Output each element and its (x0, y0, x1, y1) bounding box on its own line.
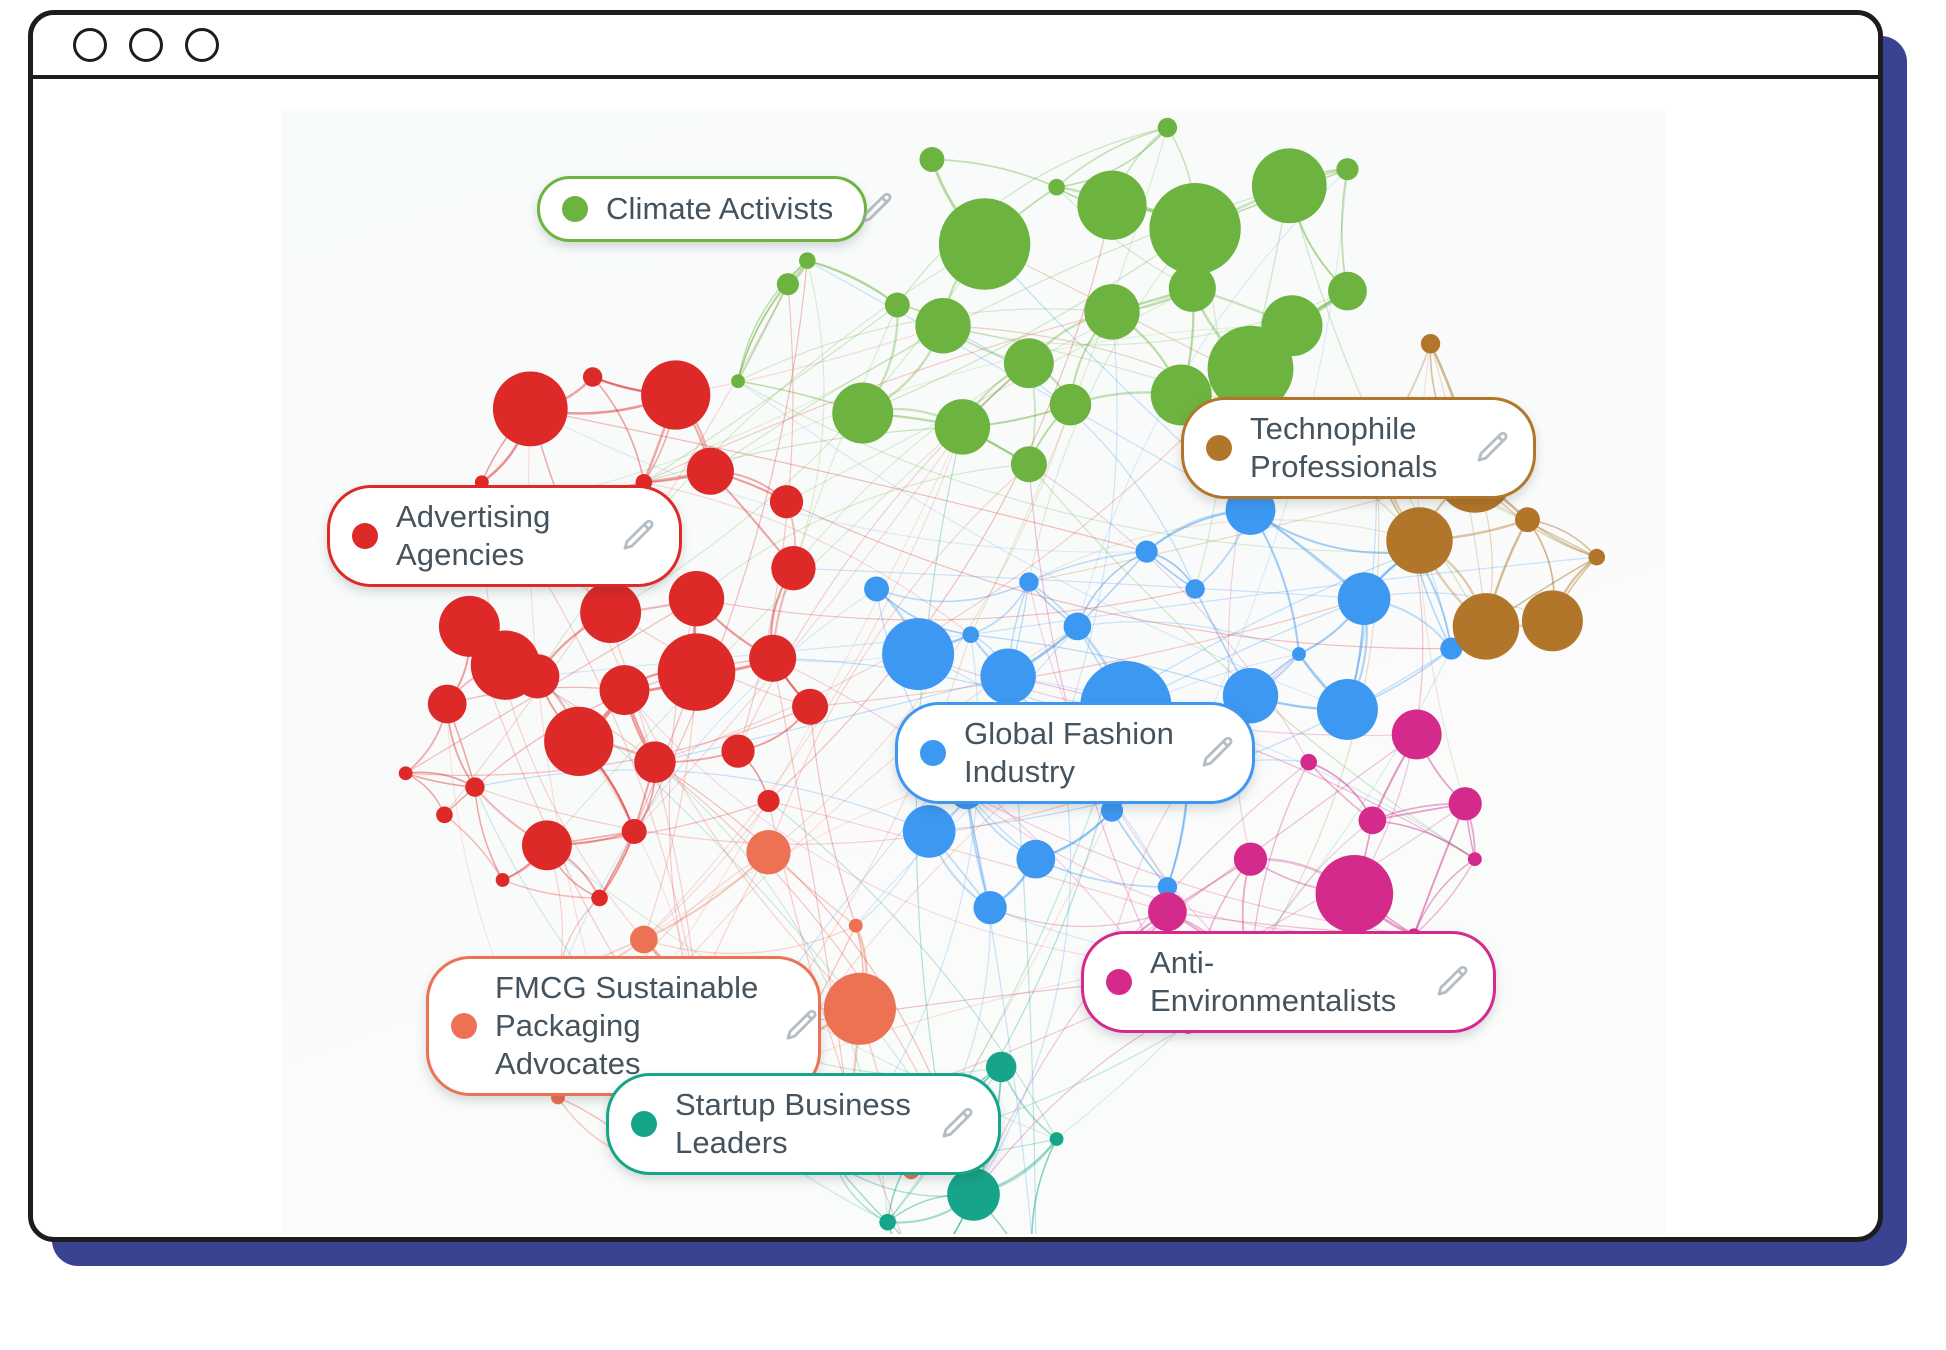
graph-edge (1414, 859, 1475, 935)
graph-node[interactable] (746, 830, 790, 874)
graph-node[interactable] (1421, 334, 1440, 353)
graph-node[interactable] (1136, 540, 1158, 562)
graph-node[interactable] (1252, 148, 1327, 223)
graph-node[interactable] (962, 626, 979, 643)
graph-node[interactable] (669, 571, 724, 626)
pencil-icon[interactable] (1433, 962, 1473, 1002)
graph-node[interactable] (630, 926, 658, 954)
graph-node[interactable] (770, 485, 803, 518)
graph-node[interactable] (1386, 507, 1452, 574)
cluster-label-line: Industry (964, 753, 1174, 791)
pencil-icon[interactable] (782, 1006, 822, 1046)
graph-node[interactable] (1050, 1132, 1064, 1146)
close-circle-icon[interactable] (73, 28, 107, 62)
graph-node[interactable] (792, 689, 828, 725)
graph-node[interactable] (428, 685, 467, 724)
graph-edge (793, 261, 824, 569)
cluster-label-line: Agencies (396, 536, 595, 574)
cluster-label-line: Technophile (1250, 410, 1449, 448)
graph-node[interactable] (622, 819, 647, 844)
pencil-icon[interactable] (1198, 733, 1238, 773)
graph-node[interactable] (1077, 171, 1146, 240)
graph-node[interactable] (947, 1168, 1000, 1221)
cluster-label-startup-business-leaders[interactable]: Startup BusinessLeaders (606, 1073, 1001, 1175)
graph-node[interactable] (849, 919, 863, 933)
graph-node[interactable] (1522, 590, 1583, 651)
cluster-label-climate-activists[interactable]: Climate Activists (537, 176, 867, 242)
cluster-label-text: FMCG SustainablePackagingAdvocates (495, 969, 758, 1083)
graph-node[interactable] (496, 873, 510, 887)
graph-node[interactable] (580, 582, 641, 643)
graph-node[interactable] (1019, 572, 1038, 591)
graph-node[interactable] (882, 618, 954, 690)
graph-node[interactable] (1328, 272, 1367, 311)
graph-node[interactable] (687, 448, 734, 495)
cluster-label-advertising-agencies[interactable]: AdvertisingAgencies (327, 485, 682, 587)
graph-node[interactable] (1234, 843, 1267, 876)
graph-node[interactable] (1300, 754, 1317, 771)
cluster-color-swatch (1106, 969, 1132, 995)
graph-edge (444, 815, 502, 880)
graph-node[interactable] (879, 1214, 896, 1231)
graph-node[interactable] (885, 292, 910, 317)
cluster-color-swatch (562, 196, 588, 222)
graph-node[interactable] (1392, 710, 1442, 760)
cluster-label-global-fashion-industry[interactable]: Global FashionIndustry (895, 702, 1255, 804)
cluster-label-text: Startup BusinessLeaders (675, 1086, 914, 1162)
graph-node[interactable] (465, 777, 484, 796)
graph-node[interactable] (1064, 613, 1092, 641)
graph-node[interactable] (1588, 549, 1605, 566)
cluster-label-text: TechnophileProfessionals (1250, 410, 1449, 486)
graph-node[interactable] (1449, 787, 1482, 820)
graph-node[interactable] (721, 734, 754, 767)
screenshot-stage: Climate ActivistsTechnophileProfessional… (0, 0, 1946, 1350)
graph-node[interactable] (544, 707, 613, 776)
graph-edge (932, 159, 1057, 187)
graph-node[interactable] (591, 890, 608, 907)
graph-node[interactable] (799, 252, 816, 269)
cluster-color-swatch (631, 1111, 657, 1137)
cluster-label-line: Anti- (1150, 944, 1409, 982)
graph-node[interactable] (757, 790, 779, 812)
graph-node[interactable] (1185, 579, 1204, 598)
graph-node[interactable] (1316, 855, 1394, 933)
pencil-icon[interactable] (938, 1104, 978, 1144)
window-viewport: Climate ActivistsTechnophileProfessional… (33, 79, 1878, 1234)
graph-node[interactable] (658, 633, 736, 711)
graph-node[interactable] (583, 367, 602, 386)
graph-node[interactable] (436, 807, 453, 824)
graph-node[interactable] (1158, 118, 1177, 137)
graph-node[interactable] (1048, 179, 1065, 196)
graph-edge (503, 880, 600, 898)
graph-node[interactable] (1011, 446, 1047, 482)
graph-node[interactable] (1338, 572, 1391, 625)
pencil-icon[interactable] (857, 189, 897, 229)
cluster-label-line: Advertising (396, 498, 595, 536)
cluster-label-line: Professionals (1250, 448, 1449, 486)
graph-node[interactable] (903, 805, 956, 858)
cluster-label-text: AdvertisingAgencies (396, 498, 595, 574)
graph-node[interactable] (1050, 384, 1092, 426)
graph-edge (810, 707, 856, 926)
graph-node[interactable] (1149, 183, 1240, 274)
graph-node[interactable] (980, 649, 1035, 704)
graph-node[interactable] (749, 635, 796, 682)
graph-edge (1414, 859, 1475, 935)
cluster-label-text: Anti-Environmentalists (1150, 944, 1409, 1020)
window-titlebar (33, 15, 1878, 79)
network-graph-canvas[interactable]: Climate ActivistsTechnophileProfessional… (281, 111, 1666, 1234)
cluster-label-line: FMCG Sustainable (495, 969, 758, 1007)
graph-node[interactable] (1004, 338, 1054, 388)
graph-node[interactable] (641, 360, 710, 429)
maximize-circle-icon[interactable] (185, 28, 219, 62)
graph-node[interactable] (824, 973, 896, 1045)
graph-node[interactable] (731, 374, 745, 388)
graph-node[interactable] (986, 1052, 1016, 1082)
minimize-circle-icon[interactable] (129, 28, 163, 62)
cluster-label-line: Global Fashion (964, 715, 1174, 753)
cluster-label-line: Environmentalists (1150, 982, 1409, 1020)
graph-node[interactable] (1453, 593, 1519, 660)
cluster-label-line: Climate Activists (606, 190, 833, 228)
graph-node[interactable] (864, 577, 889, 602)
graph-node[interactable] (493, 371, 568, 446)
graph-edge (807, 261, 897, 305)
graph-node[interactable] (1336, 158, 1358, 180)
cluster-label-line: Startup Business (675, 1086, 914, 1124)
cluster-label-text: Global FashionIndustry (964, 715, 1174, 791)
graph-node[interactable] (777, 273, 799, 295)
graph-edge (593, 377, 644, 482)
graph-node[interactable] (919, 147, 944, 172)
graph-node[interactable] (1359, 807, 1387, 835)
graph-node[interactable] (634, 741, 676, 783)
graph-node[interactable] (399, 766, 413, 780)
graph-node[interactable] (1016, 840, 1055, 879)
graph-node[interactable] (771, 546, 815, 590)
cluster-label-technophile-professionals[interactable]: TechnophileProfessionals (1181, 397, 1536, 499)
cluster-color-swatch (451, 1013, 477, 1039)
graph-node[interactable] (1317, 679, 1378, 740)
cluster-color-swatch (352, 523, 378, 549)
cluster-label-line: Leaders (675, 1124, 914, 1162)
graph-node[interactable] (1515, 507, 1540, 532)
cluster-label-anti-environmentalists[interactable]: Anti-Environmentalists (1081, 931, 1496, 1033)
graph-edge (1029, 552, 1147, 582)
graph-node[interactable] (974, 891, 1007, 924)
graph-node[interactable] (471, 631, 540, 700)
cluster-label-line: Packaging (495, 1007, 758, 1045)
graph-edge (807, 261, 897, 305)
graph-node[interactable] (1084, 284, 1139, 339)
graph-edge (787, 502, 1452, 649)
cluster-color-swatch (1206, 435, 1232, 461)
graph-node[interactable] (600, 665, 650, 715)
graph-node[interactable] (1468, 852, 1482, 866)
graph-edge (644, 672, 697, 939)
graph-node[interactable] (1292, 647, 1306, 661)
graph-node[interactable] (1169, 265, 1216, 312)
cluster-label-text: Climate Activists (606, 190, 833, 228)
cluster-color-swatch (920, 740, 946, 766)
graph-node[interactable] (522, 820, 572, 870)
graph-node[interactable] (935, 399, 990, 454)
graph-node[interactable] (939, 198, 1030, 289)
graph-node[interactable] (915, 298, 970, 353)
browser-window: Climate ActivistsTechnophileProfessional… (28, 10, 1883, 1242)
graph-node[interactable] (1148, 892, 1187, 931)
graph-node[interactable] (832, 383, 893, 444)
pencil-icon[interactable] (1473, 428, 1513, 468)
pencil-icon[interactable] (619, 516, 659, 556)
